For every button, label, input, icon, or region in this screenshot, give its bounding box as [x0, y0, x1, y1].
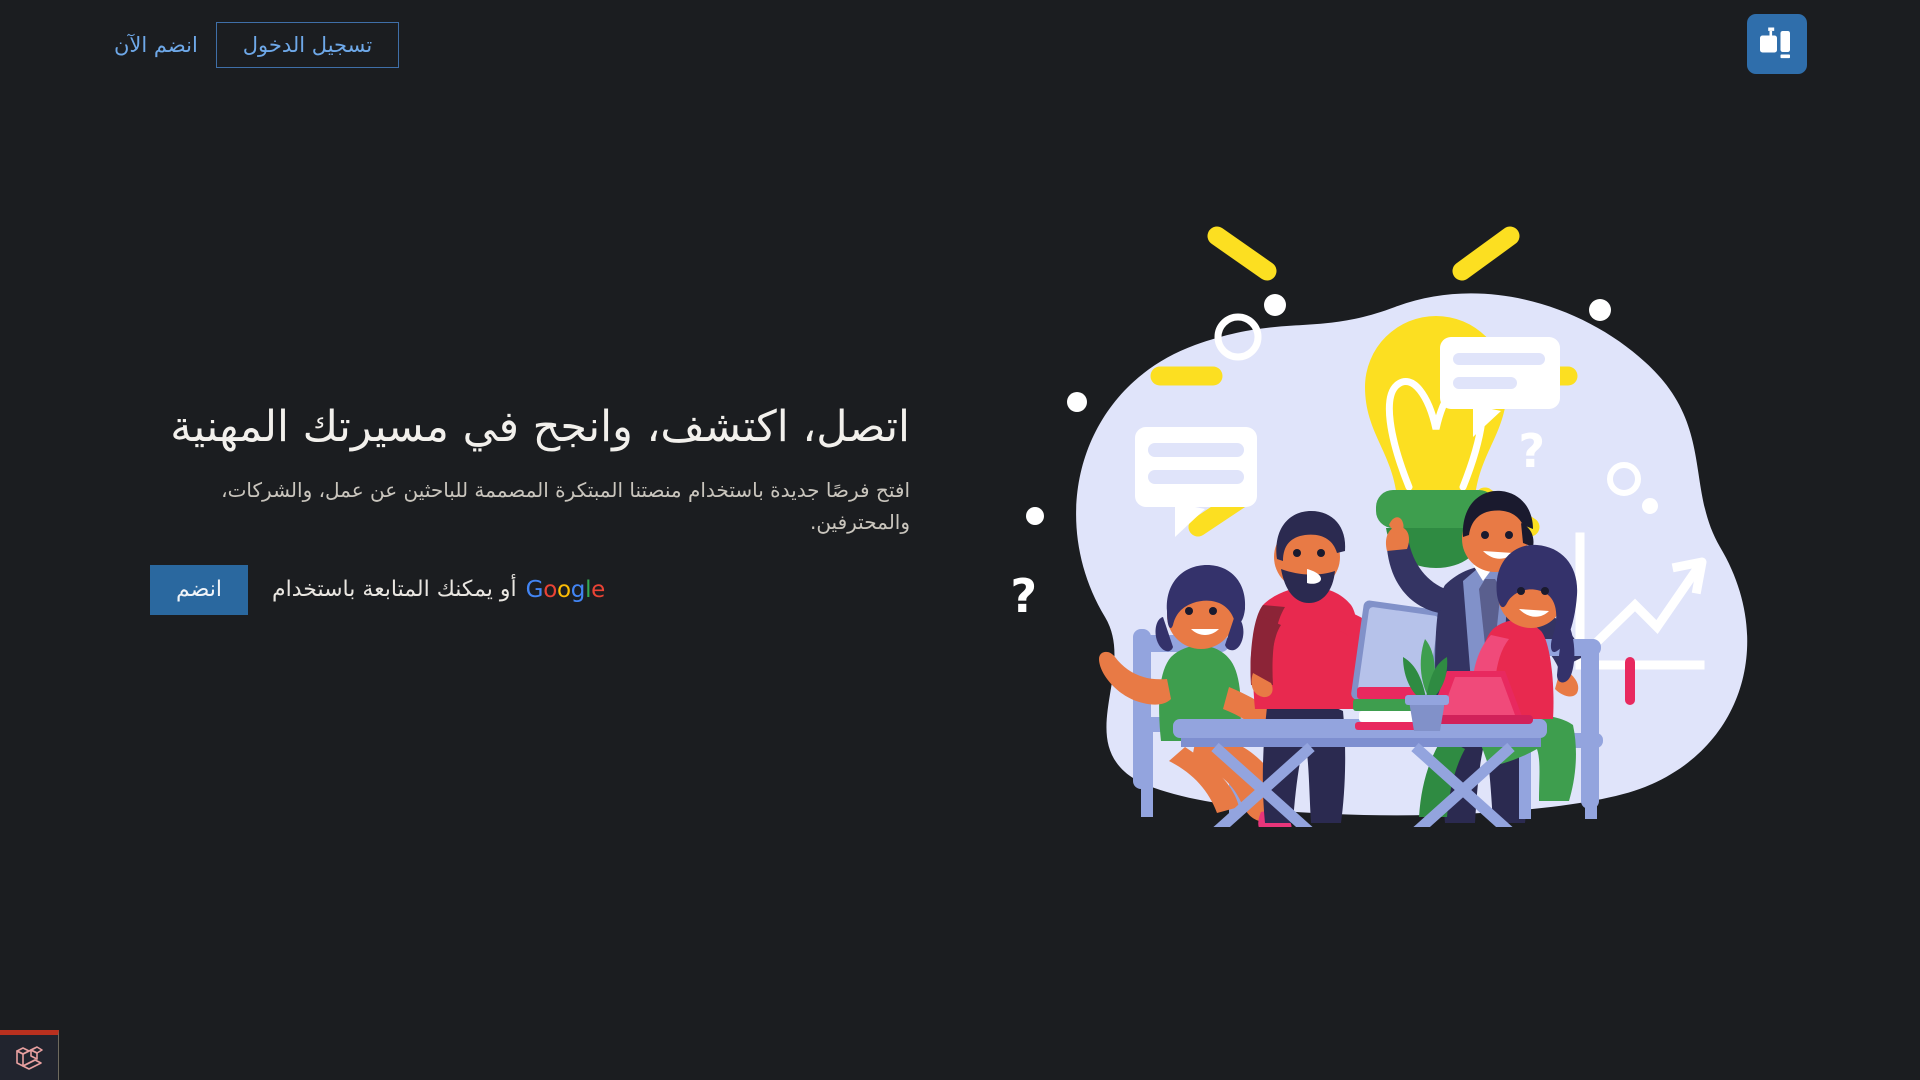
team-collaboration-lightbulb-illustration: ? ? [985, 187, 1815, 827]
google-letter-g1: G [526, 577, 544, 603]
google-letter-g2: g [571, 577, 585, 603]
google-signin-option[interactable]: أو يمكنك المتابعة باستخدام Google [248, 565, 629, 615]
brand-logo-icon [1759, 27, 1795, 61]
google-logo-icon: Google [526, 577, 605, 603]
google-signin-label: أو يمكنك المتابعة باستخدام [272, 577, 517, 602]
join-button[interactable]: انضم [150, 565, 248, 615]
question-mark-right: ? [1518, 424, 1545, 478]
login-button[interactable]: تسجيل الدخول [216, 22, 399, 68]
brand-logo[interactable] [1747, 14, 1807, 74]
question-mark-left: ? [1010, 569, 1037, 623]
laravel-debugbar-toggle[interactable] [0, 1030, 59, 1080]
decor-dot-top-right [1589, 299, 1611, 321]
decor-dot-outer-left2 [1026, 507, 1044, 525]
hero-subtitle: افتح فرصًا جديدة باستخدام منصتنا المبتكر… [150, 474, 910, 539]
laravel-icon [14, 1044, 44, 1072]
nav-actions-group: تسجيل الدخول انضم الآن [114, 22, 399, 68]
decor-dot-outer-left [1067, 392, 1087, 412]
google-letter-e: e [591, 577, 605, 603]
top-navigation-bar: تسجيل الدخول انضم الآن [0, 0, 1920, 92]
pen-accent [1625, 657, 1635, 705]
google-letter-o2: o [557, 577, 571, 603]
hero-text-column: اتصل، اكتشف، وانجح في مسيرتك المهنية افت… [90, 399, 910, 615]
page-title: اتصل، اكتشف، وانجح في مسيرتك المهنية [150, 399, 910, 456]
hero-illustration: ? ? [970, 157, 1830, 857]
cta-row: انضم أو يمكنك المتابعة باستخدام Google [150, 565, 910, 615]
join-now-link[interactable]: انضم الآن [114, 33, 198, 57]
hero-section: اتصل، اكتشف، وانجح في مسيرتك المهنية افت… [0, 92, 1920, 922]
book-stack [1353, 687, 1419, 730]
decor-circle-small [1264, 294, 1286, 316]
decor-dot-right [1642, 498, 1658, 514]
google-letter-o1: o [543, 577, 557, 603]
